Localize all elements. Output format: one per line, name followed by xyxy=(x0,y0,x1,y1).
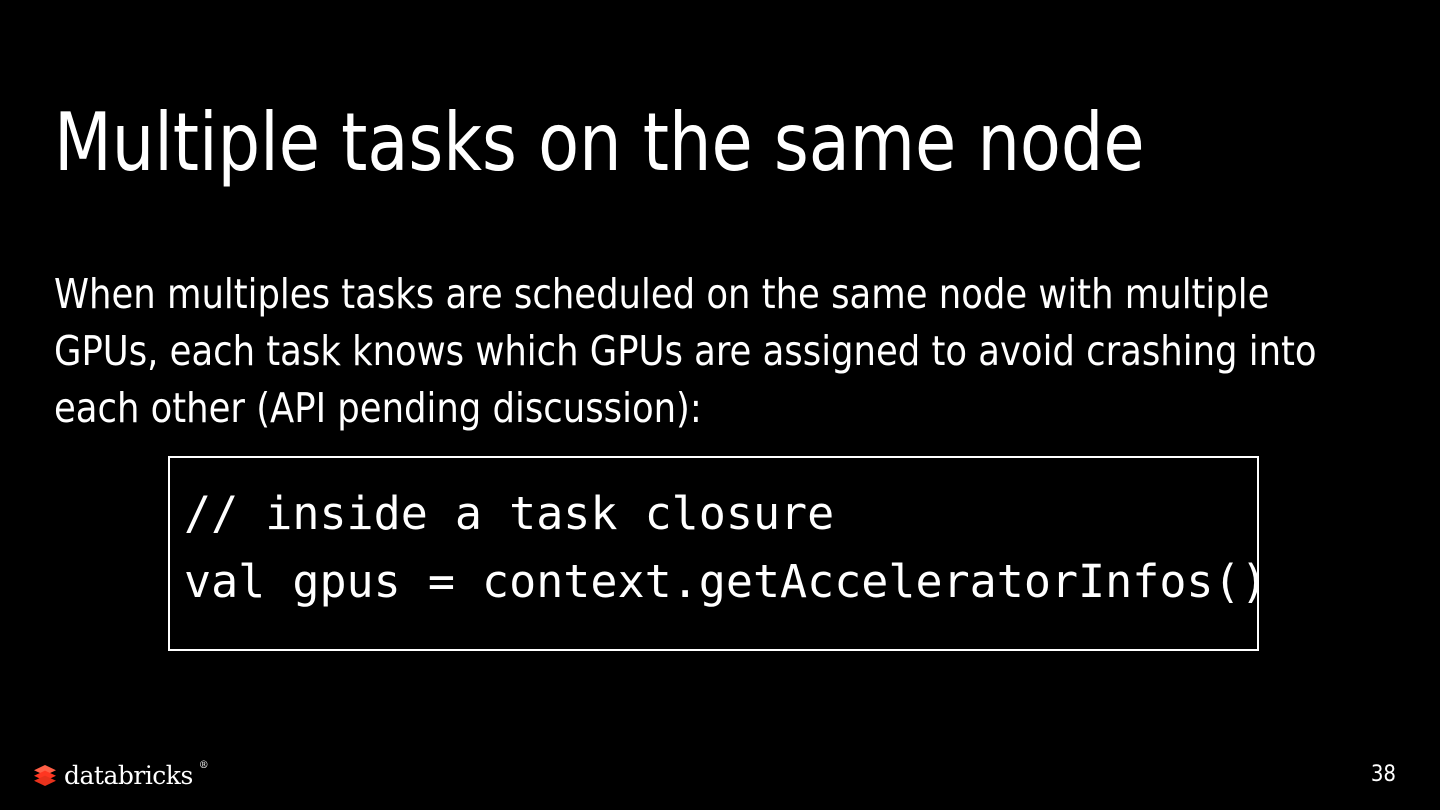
code-block-content: // inside a task closure val gpus = cont… xyxy=(184,480,1251,616)
page-title: Multiple tasks on the same node xyxy=(54,95,1282,191)
code-line: // inside a task closure xyxy=(184,480,1251,548)
databricks-stack-icon xyxy=(32,762,58,788)
page-number: 38 xyxy=(1371,763,1396,787)
body-paragraph: When multiples tasks are scheduled on th… xyxy=(54,266,1331,437)
trademark-icon: ® xyxy=(199,760,209,771)
slide: Multiple tasks on the same node When mul… xyxy=(0,0,1440,810)
databricks-wordmark: databricks xyxy=(64,763,193,789)
databricks-logo: databricks ® xyxy=(32,760,209,790)
code-line: val gpus = context.getAcceleratorInfos() xyxy=(184,548,1251,616)
code-block: // inside a task closure val gpus = cont… xyxy=(168,456,1259,651)
